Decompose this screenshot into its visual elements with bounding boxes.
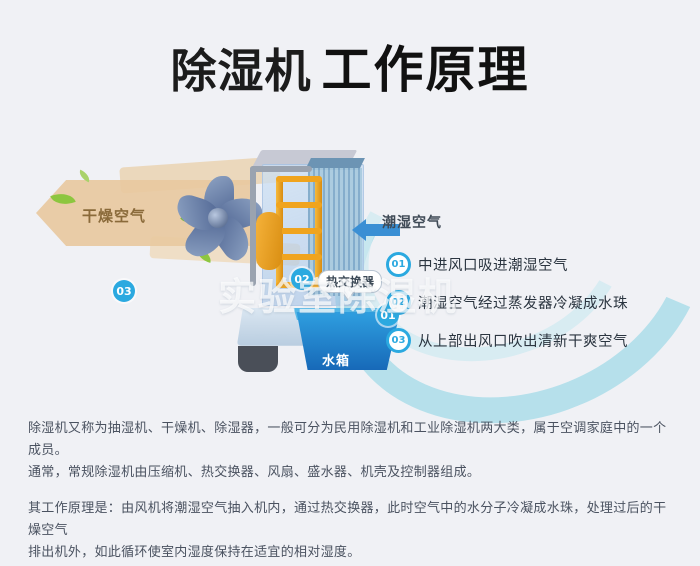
step-number-badge: 02 [386,290,411,315]
heat-exchanger-callout: 热交换器 [318,270,382,293]
marker-02-heat-exchanger: 02 [291,268,313,290]
marker-02-label: 02 [294,273,309,286]
refrigerant-pipe-vertical [250,166,256,286]
compressor-cylinder [256,212,282,270]
title-part-two: 工作原理 [322,41,530,99]
step-number-text: 03 [392,335,406,346]
list-item: 02 潮湿空气经过蒸发器冷凝成水珠 [386,290,686,314]
step-number-text: 01 [392,259,406,270]
machine-foot [238,346,278,372]
marker-03-label: 03 [116,285,131,298]
water-tank-label: 水箱 [322,350,350,369]
dry-air-label: 干燥空气 [82,205,146,226]
step-number-badge: 03 [386,328,411,353]
step-description: 潮湿空气经过蒸发器冷凝成水珠 [418,292,628,313]
step-description: 从上部出风口吹出清新干爽空气 [418,330,628,351]
list-item: 03 从上部出风口吹出清新干爽空气 [386,328,686,352]
title-part-one: 除湿机 [171,44,312,98]
step-number-text: 02 [392,297,406,308]
marker-03-dry-air: 03 [113,280,135,302]
step-description: 中进风口吸进潮湿空气 [418,254,568,275]
paragraph-two-line-one: 其工作原理是：由风机将潮湿空气抽入机内，通过热交换器，此时空气中的水分子冷凝成水… [28,498,678,542]
step-number-badge: 01 [386,252,411,277]
refrigerant-pipe-horizontal [250,166,312,172]
page-title: 除湿机工作原理 [0,30,700,102]
humid-air-label: 潮湿空气 [382,212,442,232]
process-step-list: 01 中进风口吸进潮湿空气 02 潮湿空气经过蒸发器冷凝成水珠 03 从上部出风… [386,252,686,366]
paragraph-two-line-two: 排出机外，如此循环使室内湿度保持在适宜的相对湿度。 [28,542,678,564]
page-root: 除湿机工作原理 [0,0,700,566]
paragraph-one-line-two: 通常，常规除湿机由压缩机、热交换器、风扇、盛水器、机壳及控制器组成。 [28,462,678,484]
paragraph-one-line-one: 除湿机又称为抽湿机、干燥机、除湿器，一般可分为民用除湿机和工业除湿机两大类，属于… [28,418,678,462]
list-item: 01 中进风口吸进潮湿空气 [386,252,686,276]
body-copy: 除湿机又称为抽湿机、干燥机、除湿器，一般可分为民用除湿机和工业除湿机两大类，属于… [28,418,678,564]
